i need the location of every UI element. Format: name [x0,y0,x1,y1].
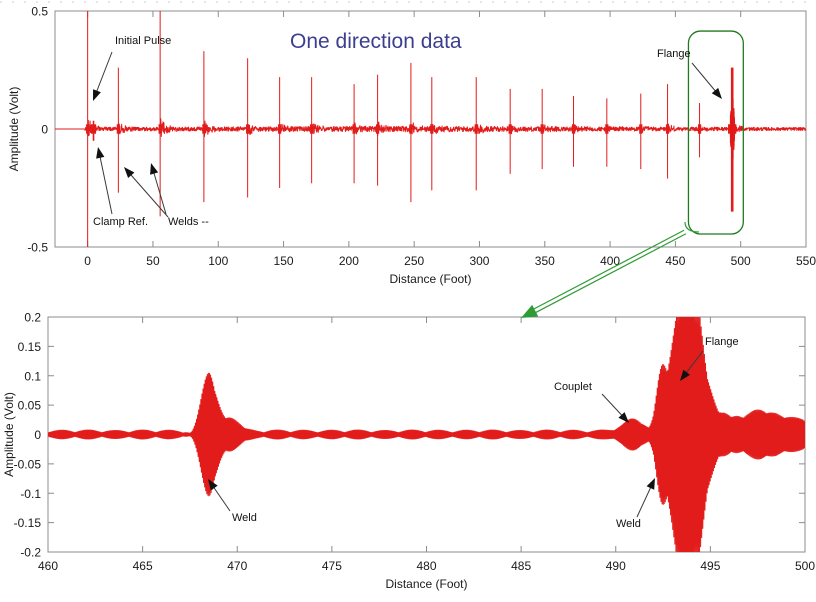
x-tick-label-top-4: 200 [339,254,359,268]
x-tick-label-bottom-5: 485 [511,559,531,573]
y-axis-label-top: Amplitude (Volt) [7,87,21,172]
x-axis-label-top: Distance (Foot) [389,272,471,286]
y-tick-label-top-0: -0.5 [27,241,48,255]
top-annotation-arrowhead-0 [93,89,101,101]
chart-title: One direction data [290,30,462,53]
top-spike-blob-17 [639,124,642,133]
bottom-annotation-arrowhead-2 [647,478,655,490]
x-tick-label-top-6: 300 [469,254,489,268]
y-tick-label-bottom-0: -0.2 [20,546,41,560]
top-spike-blob-3 [159,124,162,133]
y-tick-label-bottom-6: 0.1 [24,369,41,383]
bottom-annotation-label-3: Flange [705,336,739,348]
y-tick-label-bottom-8: 0.2 [24,311,41,325]
top-annotation-leader-2 [129,172,168,217]
top-spike-blob-14 [541,124,544,133]
top-spike-blob-1 [91,124,96,133]
top-spike-blob-6 [278,124,281,133]
top-annotation-arrowhead-1 [96,147,104,159]
x-tick-label-bottom-8: 500 [795,559,815,573]
top-spike-blob-8 [352,124,355,133]
top-spike-blob-16 [605,124,608,133]
zoom-connector-shaft-a [531,230,684,310]
x-tick-label-bottom-2: 470 [227,559,247,573]
bottom-annotation-label-0: Weld [232,512,257,524]
bottom-annotation-leader-2 [637,484,652,517]
bottom-annotation-leader-1 [602,394,624,418]
bottom-annotation-leader-0 [212,485,230,511]
x-tick-label-bottom-7: 495 [700,559,720,573]
x-tick-label-top-3: 150 [274,254,294,268]
y-tick-label-bottom-3: -0.05 [14,457,42,471]
waveform-figure: 050100150200250300350400450500550-0.500.… [0,0,816,602]
bottom-annotation-label-1: Couplet [554,381,592,393]
top-annotation-arrowhead-3 [150,163,158,175]
x-tick-label-bottom-1: 465 [133,559,153,573]
x-tick-label-top-10: 500 [731,254,751,268]
top-spike-blob-5 [246,124,249,133]
top-annotation-arrowhead-4 [712,88,722,99]
y-tick-label-top-1: 0 [41,123,48,137]
top-annotation-label-2: Welds -- [168,216,209,228]
x-tick-label-top-0: 0 [84,254,91,268]
top-annotation-label-0: Initial Pulse [115,35,171,47]
top-spike-blob-4 [202,124,205,133]
zoom-connector-arrowhead [521,305,538,318]
x-tick-label-top-1: 50 [146,254,160,268]
x-tick-label-top-11: 550 [796,254,816,268]
y-axis-label-bottom: Amplitude (Volt) [2,392,16,477]
top-spike-blob-11 [430,124,433,133]
bottom-waveform-trace [48,317,805,552]
top-spike-blob-15 [572,124,575,133]
x-tick-label-top-7: 350 [535,254,555,268]
top-spike-blob-2 [117,124,120,133]
zoom-connector-shaft-b [533,234,686,314]
top-spike-blob-18 [666,124,669,133]
top-spike-blob-10 [409,124,412,133]
x-tick-label-bottom-3: 475 [322,559,342,573]
x-tick-label-bottom-4: 480 [416,559,436,573]
top-spike-blob-13 [509,124,512,133]
top-spike-blob-19 [698,124,701,133]
x-tick-label-top-8: 400 [600,254,620,268]
top-annotation-label-4: Flange [657,48,691,60]
y-tick-label-bottom-4: 0 [34,428,41,442]
x-tick-label-bottom-6: 490 [606,559,626,573]
top-spike-blob-0 [86,124,89,133]
top-annotation-label-1: Clamp Ref. [93,216,148,228]
top-annotation-leader-4 [692,63,718,94]
y-tick-label-bottom-7: 0.15 [18,340,42,354]
x-axis-label-bottom: Distance (Foot) [385,577,467,591]
x-tick-label-top-9: 450 [665,254,685,268]
top-annotation-leader-1 [99,154,112,214]
x-tick-label-bottom-0: 460 [38,559,58,573]
bottom-trace-group [48,317,805,552]
y-tick-label-bottom-5: 0.05 [18,399,42,413]
top-spike-blob-7 [310,124,313,133]
figure-root: 050100150200250300350400450500550-0.500.… [0,0,816,602]
top-spike-blob-12 [475,124,478,133]
x-tick-label-top-5: 250 [404,254,424,268]
y-tick-label-bottom-1: -0.15 [14,516,42,530]
x-tick-label-top-2: 100 [208,254,228,268]
top-spike-blob-9 [376,124,379,133]
top-annotation-leader-0 [96,52,112,94]
y-tick-label-bottom-2: -0.1 [20,487,41,501]
bottom-annotation-label-2: Weld [616,518,641,530]
y-tick-label-top-2: 0.5 [31,5,48,19]
